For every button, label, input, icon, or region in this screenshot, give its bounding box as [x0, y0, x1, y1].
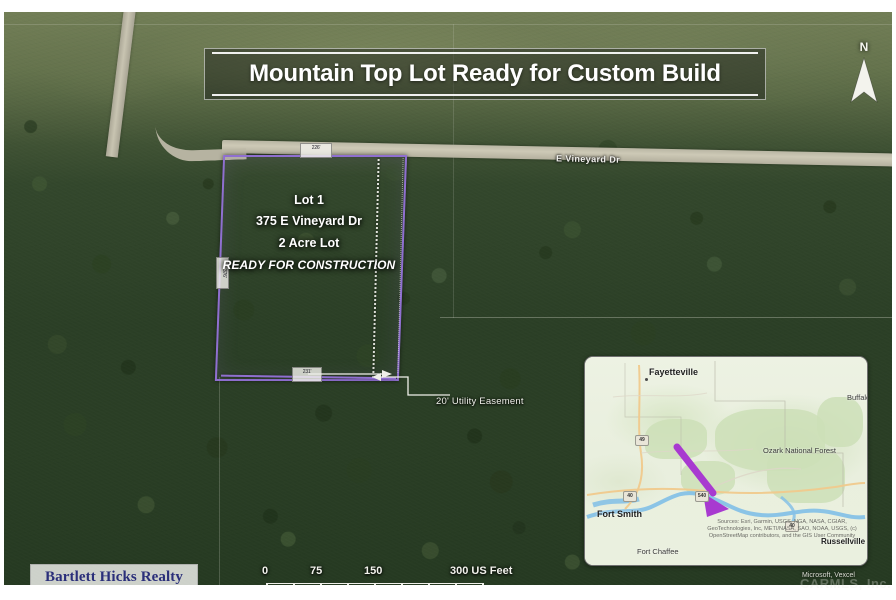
inset-location-arrow	[677, 447, 729, 517]
page-title: Mountain Top Lot Ready for Custom Build	[204, 48, 766, 100]
inset-highway-shield: 49	[635, 435, 649, 446]
inset-highway-shield: 540	[695, 491, 709, 502]
easement-label: 20' Utility Easement	[436, 396, 524, 407]
inset-city-fort-smith: Fort Smith	[597, 509, 642, 519]
inset-city-dot	[645, 378, 648, 381]
dimension-label-top: 226'	[300, 143, 332, 158]
title-banner: Mountain Top Lot Ready for Custom Build	[204, 48, 766, 100]
watermark: CARMLS, Inc.	[800, 576, 891, 591]
lot-size: 2 Acre Lot	[220, 232, 398, 254]
scale-bar-labels: 0 75 150 300 US Feet	[254, 565, 546, 579]
scale-max-label: 300 US Feet	[450, 565, 512, 577]
inset-locator-map[interactable]: 49 40 540 40 Fayetteville Fort Smith For…	[584, 356, 868, 566]
realty-logo: Bartlett Hicks Realty Real Estate Sales …	[30, 564, 198, 585]
listing-map-image: E Vineyard Dr 226' 231' 376' Lot 1 375 E…	[0, 0, 896, 600]
inset-map-attribution: Sources: Esri, Garmin, USGS, NGA, NASA, …	[703, 519, 861, 540]
lot-address: 375 E Vineyard Dr	[220, 210, 398, 232]
inset-highway-shield: 40	[623, 491, 637, 502]
survey-line-horizontal	[440, 317, 892, 318]
inset-city-buffalo: Buffalo	[847, 393, 868, 402]
scale-bar-ticks	[266, 583, 484, 585]
inset-feature-ozark-national-forest: Ozark National Forest	[763, 447, 833, 455]
scale-tick-0: 0	[262, 565, 268, 577]
lot-status: READY FOR CONSTRUCTION	[220, 254, 398, 276]
aerial-photo-map[interactable]: E Vineyard Dr 226' 231' 376' Lot 1 375 E…	[4, 12, 892, 585]
inset-city-fort-chaffee: Fort Chaffee	[637, 547, 679, 556]
survey-line-vertical	[219, 377, 220, 585]
realty-logo-name: Bartlett Hicks Realty	[45, 569, 183, 585]
road-label-e-vineyard-dr: E Vineyard Dr	[556, 153, 620, 164]
north-arrow: N	[844, 40, 884, 108]
scale-bar: 0 75 150 300 US Feet	[254, 565, 546, 585]
survey-line-top	[4, 24, 892, 25]
north-arrow-icon	[850, 56, 878, 106]
north-arrow-label: N	[844, 40, 884, 54]
scale-tick-150: 150	[364, 565, 382, 577]
lot-number: Lot 1	[220, 190, 398, 210]
parcel-info-block: Lot 1 375 E Vineyard Dr 2 Acre Lot READY…	[220, 190, 398, 276]
scale-tick-75: 75	[310, 565, 322, 577]
inset-city-fayetteville: Fayetteville	[649, 367, 698, 377]
easement-width-arrow	[304, 364, 394, 384]
